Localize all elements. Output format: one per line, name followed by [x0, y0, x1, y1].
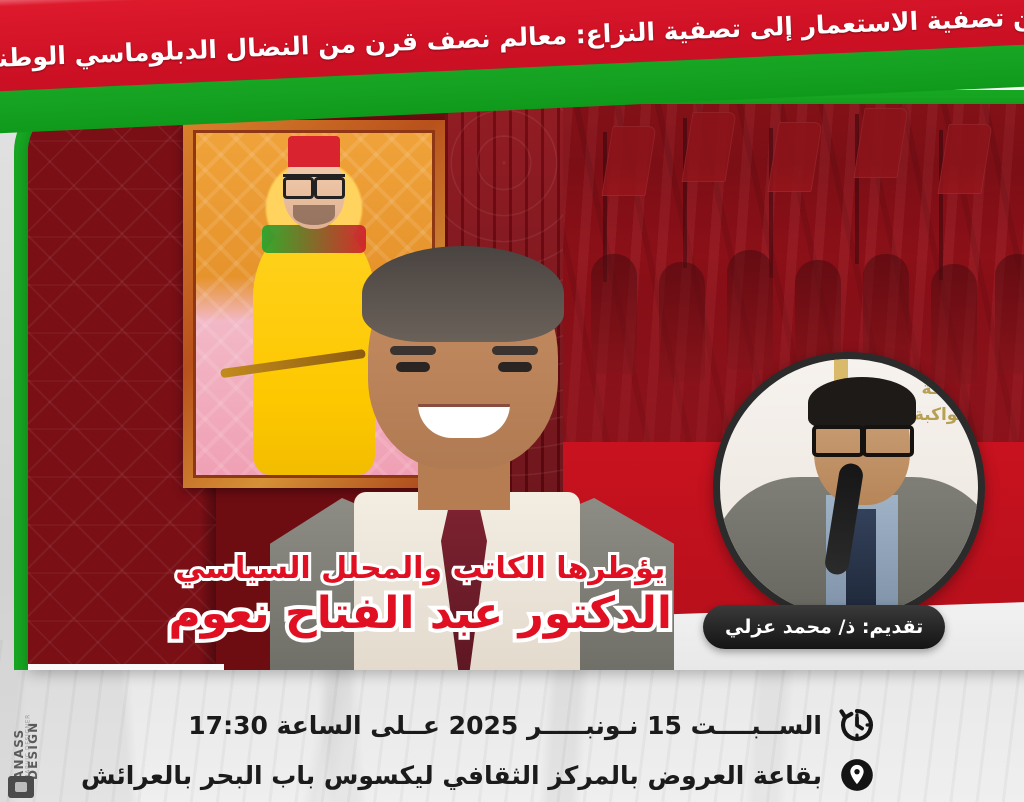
royal-sash	[262, 225, 366, 252]
event-venue-row: بقاعة العروض بالمركز الثقافي ليكسوس باب …	[0, 750, 1024, 800]
watermark-subtitle: GRAPHIC DESIGNER	[25, 680, 32, 784]
presenter-glasses-icon	[812, 425, 914, 449]
royal-glasses-icon	[283, 174, 344, 191]
watermark-badge-icon	[8, 776, 34, 798]
location-pin-icon	[836, 754, 878, 796]
event-poster: ثقافة مواكبة نظ من تصفية الاستعمار إلى ت…	[0, 0, 1024, 802]
speaker-eye	[396, 362, 430, 372]
headline-subtitle: يؤطرها الكاتب والمحلل السياسي	[168, 552, 672, 587]
photo-corner-fleck	[28, 664, 224, 670]
event-datetime-text: الســبــــت 15 نـونبـــــر 2025 عــلى ال…	[188, 711, 822, 740]
speaker-brow	[390, 346, 436, 355]
headline-block: يؤطرها الكاتب والمحلل السياسي الدكتور عب…	[168, 552, 672, 639]
event-datetime-row: الســبــــت 15 نـونبـــــر 2025 عــلى ال…	[0, 700, 1024, 750]
royal-fez-icon	[288, 136, 340, 167]
clock-history-icon	[836, 704, 878, 746]
headline-speaker-name: الدكتور عبد الفتاح نعوم	[168, 589, 672, 640]
speaker-hair	[362, 246, 564, 342]
speaker-eye	[498, 362, 532, 372]
presenter-hair	[808, 377, 916, 429]
speaker-brow	[492, 346, 538, 355]
designer-watermark: ANASS DESIGN GRAPHIC DESIGNER	[6, 668, 44, 796]
presenter-badge: تقديم: ذ/ محمد عزلي	[703, 605, 945, 649]
event-details: الســبــــت 15 نـونبـــــر 2025 عــلى ال…	[0, 700, 1024, 800]
presenter-circle-photo: ثقافة مواكبة نظ	[713, 352, 985, 624]
event-venue-text: بقاعة العروض بالمركز الثقافي ليكسوس باب …	[81, 761, 822, 790]
presenter-label: تقديم: ذ/ محمد عزلي	[725, 616, 923, 638]
